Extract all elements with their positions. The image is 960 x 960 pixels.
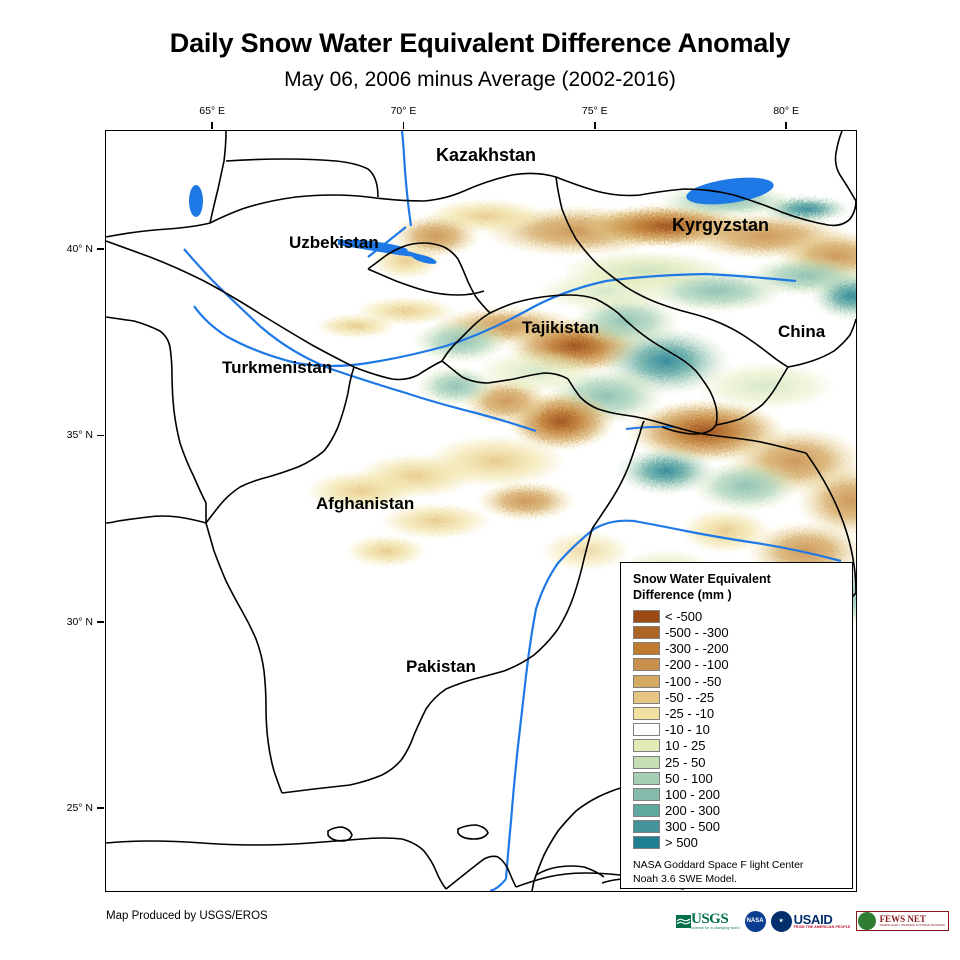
producer-credit: Map Produced by USGS/EROS [106,910,268,922]
legend-label: -100 - -50 [665,675,721,688]
usaid-logo[interactable]: ★ USAID FROM THE AMERICAN PEOPLE [771,910,851,932]
legend-label: > 500 [665,836,698,849]
legend-row[interactable]: > 500 [633,835,842,851]
usaid-seal-icon: ★ [771,911,792,932]
fewsnet-tagline: FAMINE EARLY WARNING SYSTEMS NETWORK [880,924,946,927]
nasa-logo[interactable]: NASA [745,910,766,932]
legend-label: 200 - 300 [665,804,720,817]
legend-label: -25 - -10 [665,707,714,720]
lon-tick-label: 70° E [391,105,417,117]
legend-swatch [633,626,660,639]
nasa-text: NASA [747,918,764,924]
legend-label: -200 - -100 [665,658,729,671]
country-label-kyrgyzstan: Kyrgyzstan [672,215,769,235]
usaid-wordmark: USAID FROM THE AMERICAN PEOPLE [794,913,851,930]
lat-tick-mark [97,807,104,809]
page-subtitle: May 06, 2006 minus Average (2002-2016) [0,68,960,92]
page-title: Daily Snow Water Equivalent Difference A… [0,28,960,59]
map-legend[interactable]: Snow Water Equivalent Difference (mm ) <… [620,562,853,889]
lat-tick-label: 25° N [53,802,93,814]
legend-row[interactable]: 100 - 200 [633,786,842,802]
legend-label: 100 - 200 [665,788,720,801]
legend-swatch [633,739,660,752]
legend-swatch [633,642,660,655]
usaid-tagline: FROM THE AMERICAN PEOPLE [794,926,851,930]
legend-label: -10 - 10 [665,723,710,736]
legend-label: 10 - 25 [665,739,705,752]
usgs-tagline: science for a changing world [691,927,740,930]
country-label-turkmenistan: Turkmenistan [222,358,332,377]
legend-swatch [633,804,660,817]
legend-row[interactable]: -25 - -10 [633,705,842,721]
legend-label: < -500 [665,610,702,623]
legend-credit-line1: NASA Goddard Space F light Center [633,858,842,872]
lat-tick-label: 40° N [53,243,93,255]
legend-swatch [633,691,660,704]
legend-row[interactable]: -200 - -100 [633,657,842,673]
country-label-china: China [778,322,826,341]
legend-credit: NASA Goddard Space F light Center Noah 3… [633,858,842,886]
legend-swatch [633,675,660,688]
country-label-uzbekistan: Uzbekistan [289,233,379,252]
legend-row[interactable]: -500 - -300 [633,624,842,640]
fewsnet-logo[interactable]: FEWS NET FAMINE EARLY WARNING SYSTEMS NE… [856,911,950,931]
legend-row[interactable]: 50 - 100 [633,770,842,786]
lat-tick-mark [97,621,104,623]
legend-row[interactable]: 10 - 25 [633,738,842,754]
legend-row[interactable]: 300 - 500 [633,819,842,835]
lon-tick-label: 65° E [199,105,225,117]
lon-tick-label: 80° E [773,105,799,117]
legend-row[interactable]: -100 - -50 [633,673,842,689]
legend-swatch [633,723,660,736]
usgs-wordmark: USGS science for a changing world [691,912,740,930]
usgs-text: USGS [691,911,728,927]
legend-swatch [633,756,660,769]
legend-label: 300 - 500 [665,820,720,833]
legend-row[interactable]: < -500 [633,608,842,624]
legend-row[interactable]: -300 - -200 [633,641,842,657]
legend-swatch [633,658,660,671]
lat-tick-mark [97,435,104,437]
legend-swatch [633,836,660,849]
legend-label: 25 - 50 [665,756,705,769]
usgs-logo[interactable]: USGS science for a changing world [676,910,740,932]
fewsnet-wordmark: FEWS NET FAMINE EARLY WARNING SYSTEMS NE… [877,915,949,927]
fewsnet-globe-icon [858,912,876,930]
legend-swatch [633,772,660,785]
legend-title-line1: Snow Water Equivalent [633,572,842,588]
legend-row[interactable]: -10 - 10 [633,722,842,738]
country-label-tajikistan: Tajikistan [522,318,599,337]
legend-swatch [633,610,660,623]
legend-row[interactable]: 200 - 300 [633,803,842,819]
country-label-pakistan: Pakistan [406,657,476,676]
lon-tick-mark [211,122,213,129]
country-label-kazakhstan: Kazakhstan [436,145,536,165]
legend-title-line2: Difference (mm ) [633,588,842,604]
legend-label: -300 - -200 [665,642,729,655]
legend-row[interactable]: -50 - -25 [633,689,842,705]
legend-credit-line2: Noah 3.6 SWE Model. [633,872,842,886]
legend-entries: < -500-500 - -300-300 - -200-200 - -100-… [633,608,842,851]
lat-tick-mark [97,248,104,250]
legend-label: -500 - -300 [665,626,729,639]
country-label-afghanistan: Afghanistan [316,494,414,513]
legend-swatch [633,820,660,833]
legend-label: 50 - 100 [665,772,713,785]
lat-tick-label: 30° N [53,616,93,628]
lon-tick-mark [785,122,787,129]
legend-label: -50 - -25 [665,691,714,704]
lon-tick-mark [403,122,405,129]
legend-swatch [633,788,660,801]
nasa-meatball-icon: NASA [745,911,766,932]
legend-row[interactable]: 25 - 50 [633,754,842,770]
usgs-mark-icon [676,915,691,928]
agency-logo-bar: USGS science for a changing world NASA ★… [676,906,949,936]
lon-tick-mark [594,122,596,129]
legend-title: Snow Water Equivalent Difference (mm ) [633,572,842,603]
legend-swatch [633,707,660,720]
lon-tick-label: 75° E [582,105,608,117]
lat-tick-label: 35° N [53,429,93,441]
